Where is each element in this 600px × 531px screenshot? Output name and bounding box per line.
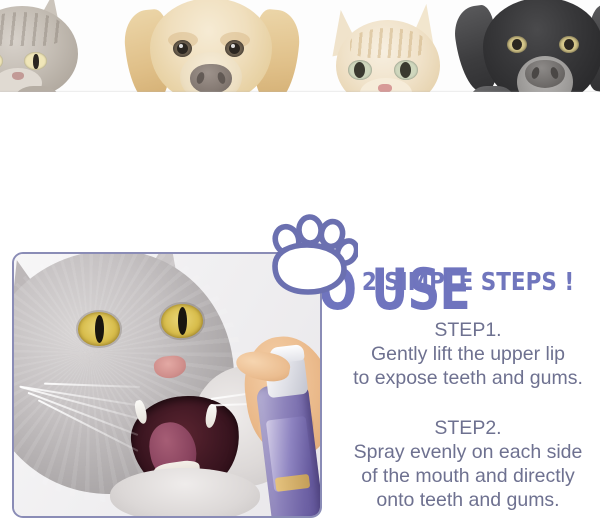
dog-eye-glint-right	[231, 44, 235, 48]
how-to-use-infographic: HOW TO USE	[0, 0, 600, 531]
paw-print-icon	[266, 214, 358, 296]
spray-bottle-gold-band	[275, 474, 310, 492]
title-row: HOW TO USE	[0, 128, 600, 206]
photo-cat-chin	[110, 468, 260, 516]
cat-nose	[12, 72, 24, 80]
dog-pupil-left	[512, 39, 522, 50]
step-2-line-1: Spray evenly on each side	[336, 440, 600, 464]
step-2-line-2: of the mouth and directly	[336, 464, 600, 488]
step-1-line-2: to expose teeth and gums.	[336, 366, 600, 390]
step-2-line-3: onto teeth and gums.	[336, 488, 600, 512]
step-1-line-1: Gently lift the upper lip	[336, 342, 600, 366]
step-1-block: STEP1. Gently lift the upper lip to expo…	[336, 318, 600, 390]
instructions-column: 2 SIMPLE STEPS ! STEP1. Gently lift the …	[336, 268, 600, 512]
photo-cat-pupil-left	[95, 315, 104, 343]
cat-pupil-right	[400, 62, 411, 78]
cat-pupil-left	[354, 62, 365, 78]
dog-pupil-right	[564, 39, 574, 50]
dog-eye-glint-left	[179, 44, 183, 48]
banner-ledge	[0, 92, 600, 120]
photo-cat-pupil-right	[178, 307, 187, 335]
cat-pupil-right	[33, 54, 39, 69]
cat-forehead-stripes	[350, 28, 426, 58]
instructions-heading: 2 SIMPLE STEPS !	[354, 268, 581, 296]
step-2-label: STEP2.	[336, 416, 600, 440]
step-2-block: STEP2. Spray evenly on each side of the …	[336, 416, 600, 512]
pets-banner	[0, 0, 600, 120]
step-1-label: STEP1.	[336, 318, 600, 342]
